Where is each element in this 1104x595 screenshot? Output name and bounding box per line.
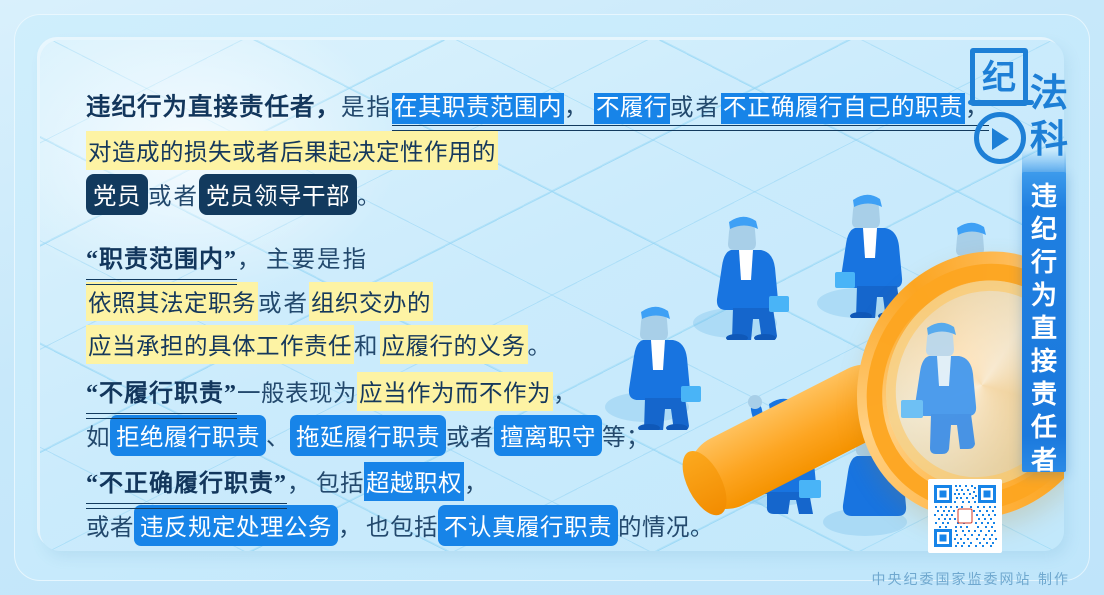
text-segment: 也包括 [366,508,438,542]
text-line: 违纪行为直接责任者， 是指 在其职责范围内，不履行或者不正确履行自己的职责， [86,88,726,131]
text-segment: 一般表现为 [237,374,357,408]
underlined-phrase: 在其职责范围内，不履行或者不正确履行自己的职责， [392,88,989,122]
text-segment: ， [287,464,311,498]
quoted-term: “不正确履行职责” [86,463,287,500]
text-line: “职责范围内” ， 主要是指 [86,239,726,282]
text-segment: 或者 [148,177,199,211]
text-segment: 或者 [258,284,309,318]
highlight-blue: 超越职权 [364,462,464,501]
logo-char-bai [970,104,1030,168]
paragraph-definition: 违纪行为直接责任者， 是指 在其职责范围内，不履行或者不正确履行自己的职责， 对… [86,88,726,217]
body-text: 违纪行为直接责任者， 是指 在其职责范围内，不履行或者不正确履行自己的职责， 对… [86,88,726,551]
text-line: “不正确履行职责” ， 包括 超越职权 ， [86,462,726,505]
logo-bai-stroke [968,100,1034,105]
qr-pattern [932,483,998,549]
text-segment: ， [338,508,362,542]
vertical-title-banner: 违 纪 行 为 直 接 责 任 者 [1022,172,1066,472]
text-line: 党员 或者 党员领导干部 。 [86,174,726,217]
banner-char: 接 [1022,346,1066,379]
banner-char: 为 [1022,280,1066,313]
text-segment: 。 [528,327,552,361]
highlight-blue-pill: 擅离职守 [494,415,602,456]
red-seal-icon [958,509,973,524]
text-segment: 主要是指 [266,240,368,274]
qr-code[interactable] [928,479,1002,553]
banner-char: 任 [1022,412,1066,445]
highlight-blue: 不正确履行自己的职责 [721,93,965,124]
brand-logo: 纪 法 科 [968,48,1088,176]
highlight-blue: 不履行 [594,93,670,124]
logo-char-ji: 纪 [970,48,1028,106]
paragraph-improper-performance: “不正确履行职责” ， 包括 超越职权 ， 或者 违反规定处理公务 ， 也包括 … [86,462,726,548]
text-segment: ， [564,95,588,121]
text-segment: 的情况。 [618,508,714,542]
banner-char: 违 [1022,181,1066,214]
text-segment: 等； [602,418,650,452]
text-segment: 如 [86,418,110,452]
text-line: 应当承担的具体工作责任 和 应履行的义务 。 [86,325,726,368]
pill-dark: 党员 [86,174,148,215]
banner-char: 纪 [1022,214,1066,247]
logo-char-ke: 科 [1030,116,1088,162]
text-segment: 包括 [316,464,364,498]
text-line: “不履行职责” 一般表现为 应当作为而不作为 ， [86,372,726,415]
text-line: 或者 违反规定处理公务 ， 也包括 不认真履行职责 的情况。 [86,505,726,548]
logo-char-fa: 法 [1030,70,1088,116]
highlight-blue-pill: 拖延履行职责 [290,415,446,456]
highlight-yellow: 应履行的义务 [380,325,528,364]
highlight-blue-pill: 违反规定处理公务 [134,505,338,546]
infographic-poster: 违纪行为直接责任者， 是指 在其职责范围内，不履行或者不正确履行自己的职责， 对… [0,0,1104,595]
banner-char: 直 [1022,313,1066,346]
highlight-yellow: 应当承担的具体工作责任 [86,325,354,364]
highlight-yellow: 对造成的损失或者后果起决定性作用的 [86,131,498,170]
footer-credit: 中央纪委国家监委网站 制作 [872,569,1070,589]
magnified-businessman-figure [901,316,987,454]
highlight-yellow: 应当作为而不作为 [357,372,553,411]
text-line: 对造成的损失或者后果起决定性作用的 [86,131,726,174]
highlight-yellow: 依照其法定职务 [86,282,258,321]
logo-chars-fa-ke: 法 科 [1030,70,1088,162]
text-line: 如 拒绝履行职责 、 拖延履行职责 或者 擅离职守 等； [86,415,726,458]
text-segment: ， [237,240,261,274]
play-icon [992,128,1009,150]
definition-heading: 违纪行为直接责任者， [86,88,341,123]
text-line: 依照其法定职务 或者 组织交办的 [86,282,726,325]
highlight-blue-pill: 不认真履行职责 [438,505,618,546]
text-segment: 或者 [446,418,494,452]
text-segment: 或者 [670,95,721,121]
text-segment: 、 [266,418,290,452]
text-segment: 和 [354,327,380,361]
quoted-term: “不履行职责” [86,373,237,410]
highlight-blue: 在其职责范围内 [392,93,564,124]
text-segment: ， [553,374,577,408]
pill-dark: 党员领导干部 [199,174,357,215]
banner-char: 行 [1022,247,1066,280]
text-segment: ， [464,464,488,498]
inner-panel: 违纪行为直接责任者， 是指 在其职责范围内，不履行或者不正确履行自己的职责， 对… [40,40,1064,551]
banner-char: 者 [1022,445,1066,478]
highlight-yellow: 组织交办的 [309,282,433,321]
quoted-term: “职责范围内” [86,239,237,276]
text-segment: 是指 [341,88,392,122]
banner-char: 责 [1022,379,1066,412]
magnifying-glass [685,220,1064,551]
text-segment: 。 [357,177,381,211]
highlight-blue-pill: 拒绝履行职责 [110,415,266,456]
paragraph-non-performance: “不履行职责” 一般表现为 应当作为而不作为 ， 如 拒绝履行职责 、 拖延履行… [86,372,726,458]
text-segment: 或者 [86,508,134,542]
paragraph-scope-of-duty: “职责范围内” ， 主要是指 依照其法定职务 或者 组织交办的 应当承担的具体工… [86,239,726,368]
